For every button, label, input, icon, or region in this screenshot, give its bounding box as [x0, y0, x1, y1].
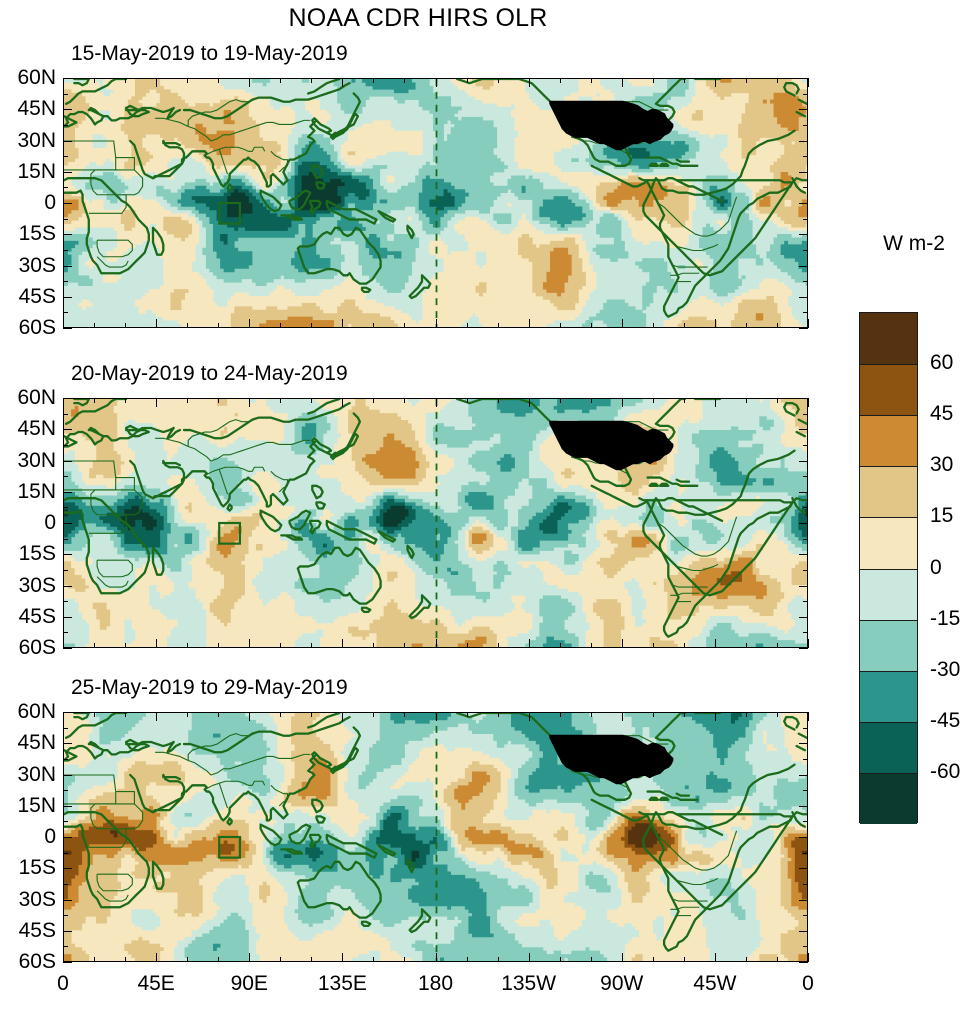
latitude-minor-tick [63, 125, 68, 126]
longitude-tick [156, 78, 157, 87]
longitude-minor-tick [467, 712, 468, 717]
latitude-label: 60S [19, 636, 56, 660]
longitude-minor-tick [746, 323, 747, 328]
latitude-tick [63, 617, 72, 618]
longitude-tick [529, 319, 530, 328]
figure-canvas: NOAA CDR HIRS OLR 15-May-2019 to 19-May-… [0, 0, 964, 1013]
colorbar-tick-label: -15 [930, 607, 960, 631]
latitude-label: 60S [19, 316, 56, 340]
longitude-tick [63, 319, 64, 328]
latitude-minor-tick [63, 507, 68, 508]
colorbar [859, 312, 918, 823]
longitude-tick [156, 953, 157, 962]
latitude-tick [63, 648, 72, 649]
longitude-tick [342, 953, 343, 962]
latitude-tick [63, 931, 72, 932]
latitude-label: 45S [19, 605, 56, 629]
latitude-minor-tick [63, 414, 68, 415]
longitude-minor-tick [560, 643, 561, 648]
latitude-label: 30S [19, 254, 56, 278]
latitude-tick [63, 266, 72, 267]
panel-title-3: 25-May-2019 to 29-May-2019 [71, 676, 348, 700]
longitude-tick [715, 639, 716, 648]
colorbar-divider [860, 773, 917, 774]
longitude-minor-tick [777, 712, 778, 717]
longitude-label: 180 [418, 972, 453, 996]
figure-title: NOAA CDR HIRS OLR [0, 4, 836, 33]
longitude-tick [529, 398, 530, 407]
longitude-tick [63, 712, 64, 721]
longitude-tick [156, 639, 157, 648]
latitude-tick [63, 172, 72, 173]
latitude-minor-tick [63, 570, 68, 571]
latitude-tick-right [799, 712, 808, 713]
latitude-minor-tick [63, 632, 68, 633]
colorbar-band [860, 722, 917, 774]
longitude-minor-tick [591, 323, 592, 328]
longitude-minor-tick [280, 398, 281, 403]
longitude-minor-tick [777, 643, 778, 648]
latitude-tick [63, 429, 72, 430]
longitude-minor-tick [373, 643, 374, 648]
longitude-minor-tick [187, 398, 188, 403]
longitude-minor-tick [373, 323, 374, 328]
latitude-minor-tick-right [803, 312, 808, 313]
longitude-minor-tick [125, 957, 126, 962]
latitude-tick [63, 712, 72, 713]
longitude-minor-tick [94, 78, 95, 83]
longitude-minor-tick [684, 323, 685, 328]
latitude-tick [63, 461, 72, 462]
latitude-label: 0 [44, 191, 56, 215]
latitude-tick [63, 297, 72, 298]
longitude-minor-tick [467, 398, 468, 403]
longitude-minor-tick [653, 78, 654, 83]
latitude-tick [63, 141, 72, 142]
longitude-minor-tick [498, 78, 499, 83]
latitude-tick [63, 203, 72, 204]
longitude-minor-tick [94, 712, 95, 717]
longitude-minor-tick [560, 712, 561, 717]
longitude-tick [249, 78, 250, 87]
longitude-tick [156, 319, 157, 328]
longitude-tick [622, 953, 623, 962]
latitude-label: 60N [17, 66, 56, 90]
latitude-label: 30N [17, 449, 56, 473]
latitude-tick [63, 962, 72, 963]
latitude-tick-right [799, 554, 808, 555]
colorbar-tick-label: 30 [930, 453, 953, 477]
longitude-tick [622, 639, 623, 648]
latitude-tick [63, 78, 72, 79]
longitude-tick [342, 712, 343, 721]
latitude-minor-tick [63, 187, 68, 188]
latitude-minor-tick-right [803, 125, 808, 126]
longitude-tick [63, 953, 64, 962]
longitude-label: 0 [802, 972, 814, 996]
colorbar-band [860, 773, 917, 825]
longitude-tick [249, 639, 250, 648]
latitude-minor-tick [63, 539, 68, 540]
longitude-minor-tick [94, 323, 95, 328]
longitude-minor-tick [125, 78, 126, 83]
latitude-minor-tick [63, 946, 68, 947]
longitude-tick [249, 319, 250, 328]
longitude-minor-tick [218, 78, 219, 83]
longitude-tick [808, 398, 809, 407]
longitude-minor-tick [746, 957, 747, 962]
latitude-tick-right [799, 837, 808, 838]
colorbar-tick-label: -30 [930, 658, 960, 682]
longitude-minor-tick [125, 323, 126, 328]
latitude-minor-tick [63, 884, 68, 885]
latitude-minor-tick-right [803, 414, 808, 415]
longitude-tick [622, 78, 623, 87]
latitude-minor-tick [63, 476, 68, 477]
latitude-tick-right [799, 586, 808, 587]
latitude-minor-tick-right [803, 445, 808, 446]
longitude-minor-tick [498, 643, 499, 648]
latitude-label: 60N [17, 386, 56, 410]
longitude-minor-tick [280, 323, 281, 328]
longitude-minor-tick [187, 323, 188, 328]
map-panel-1 [63, 78, 808, 328]
colorbar-band [860, 466, 917, 518]
longitude-tick [529, 639, 530, 648]
longitude-minor-tick [311, 643, 312, 648]
longitude-minor-tick [311, 398, 312, 403]
longitude-tick [63, 639, 64, 648]
longitude-minor-tick [373, 398, 374, 403]
longitude-tick [342, 319, 343, 328]
latitude-minor-tick-right [803, 884, 808, 885]
longitude-tick [342, 78, 343, 87]
longitude-minor-tick [498, 323, 499, 328]
longitude-minor-tick [94, 643, 95, 648]
latitude-minor-tick-right [803, 728, 808, 729]
longitude-minor-tick [187, 957, 188, 962]
longitude-tick [529, 712, 530, 721]
latitude-tick-right [799, 743, 808, 744]
longitude-tick [808, 712, 809, 721]
longitude-tick [622, 712, 623, 721]
longitude-minor-tick [746, 78, 747, 83]
longitude-minor-tick [311, 957, 312, 962]
longitude-tick [342, 398, 343, 407]
longitude-minor-tick [746, 643, 747, 648]
longitude-minor-tick [746, 398, 747, 403]
latitude-minor-tick-right [803, 790, 808, 791]
longitude-minor-tick [467, 78, 468, 83]
longitude-minor-tick [404, 643, 405, 648]
colorbar-divider [860, 364, 917, 365]
latitude-tick-right [799, 297, 808, 298]
latitude-label: 30S [19, 574, 56, 598]
longitude-minor-tick [125, 643, 126, 648]
colorbar-divider [860, 620, 917, 621]
latitude-tick [63, 837, 72, 838]
latitude-tick-right [799, 266, 808, 267]
longitude-minor-tick [280, 712, 281, 717]
longitude-tick [156, 712, 157, 721]
colorbar-units-label: W m-2 [883, 232, 945, 256]
latitude-tick [63, 775, 72, 776]
longitude-minor-tick [684, 398, 685, 403]
longitude-minor-tick [653, 712, 654, 717]
longitude-minor-tick [94, 398, 95, 403]
longitude-minor-tick [218, 323, 219, 328]
colorbar-tick-label: 45 [930, 402, 953, 426]
map-panel-2 [63, 398, 808, 648]
latitude-label: 15S [19, 856, 56, 880]
longitude-minor-tick [653, 398, 654, 403]
latitude-tick-right [799, 617, 808, 618]
colorbar-band [860, 620, 917, 672]
latitude-tick [63, 398, 72, 399]
latitude-tick [63, 234, 72, 235]
latitude-label: 45S [19, 285, 56, 309]
latitude-label: 60N [17, 700, 56, 724]
latitude-minor-tick-right [803, 821, 808, 822]
colorbar-tick-label: 0 [930, 556, 942, 580]
longitude-minor-tick [684, 712, 685, 717]
latitude-minor-tick-right [803, 539, 808, 540]
latitude-tick-right [799, 429, 808, 430]
colorbar-divider [860, 722, 917, 723]
longitude-minor-tick [591, 643, 592, 648]
longitude-minor-tick [653, 323, 654, 328]
panel-title-2: 20-May-2019 to 24-May-2019 [71, 362, 348, 386]
latitude-tick-right [799, 78, 808, 79]
latitude-label: 45N [17, 417, 56, 441]
latitude-tick-right [799, 962, 808, 963]
panel-title-1: 15-May-2019 to 19-May-2019 [71, 42, 348, 66]
latitude-tick-right [799, 931, 808, 932]
longitude-minor-tick [187, 712, 188, 717]
latitude-tick-right [799, 648, 808, 649]
longitude-tick [436, 319, 437, 328]
longitude-minor-tick [684, 78, 685, 83]
latitude-minor-tick [63, 219, 68, 220]
longitude-tick [249, 953, 250, 962]
longitude-minor-tick [684, 957, 685, 962]
longitude-tick [436, 639, 437, 648]
longitude-minor-tick [498, 712, 499, 717]
longitude-tick [436, 712, 437, 721]
latitude-label: 45S [19, 919, 56, 943]
latitude-tick [63, 743, 72, 744]
latitude-minor-tick-right [803, 915, 808, 916]
longitude-minor-tick [280, 78, 281, 83]
longitude-minor-tick [777, 398, 778, 403]
latitude-label: 15S [19, 222, 56, 246]
longitude-tick [529, 78, 530, 87]
latitude-tick-right [799, 172, 808, 173]
latitude-label: 15N [17, 794, 56, 818]
longitude-minor-tick [560, 323, 561, 328]
longitude-tick [436, 78, 437, 87]
latitude-minor-tick [63, 759, 68, 760]
longitude-minor-tick [467, 957, 468, 962]
longitude-minor-tick [218, 398, 219, 403]
colorbar-tick-label: 15 [930, 504, 953, 528]
longitude-tick [715, 398, 716, 407]
latitude-minor-tick [63, 312, 68, 313]
longitude-tick [715, 712, 716, 721]
latitude-label: 15S [19, 542, 56, 566]
longitude-tick [715, 78, 716, 87]
latitude-label: 30N [17, 129, 56, 153]
colorbar-tick-label: -60 [930, 760, 960, 784]
latitude-minor-tick-right [803, 853, 808, 854]
latitude-minor-tick [63, 156, 68, 157]
latitude-minor-tick-right [803, 946, 808, 947]
longitude-minor-tick [94, 957, 95, 962]
longitude-minor-tick [777, 323, 778, 328]
longitude-tick [808, 319, 809, 328]
longitude-tick [63, 398, 64, 407]
longitude-minor-tick [653, 957, 654, 962]
latitude-tick [63, 554, 72, 555]
longitude-minor-tick [777, 957, 778, 962]
latitude-tick [63, 109, 72, 110]
longitude-label: 135E [318, 972, 367, 996]
latitude-label: 15N [17, 480, 56, 504]
longitude-tick [715, 319, 716, 328]
map-panel-3 [63, 712, 808, 962]
longitude-tick [808, 78, 809, 87]
longitude-minor-tick [187, 78, 188, 83]
latitude-minor-tick-right [803, 250, 808, 251]
latitude-minor-tick-right [803, 601, 808, 602]
colorbar-band [860, 364, 917, 416]
latitude-minor-tick-right [803, 759, 808, 760]
longitude-minor-tick [311, 323, 312, 328]
longitude-tick [249, 712, 250, 721]
colorbar-band [860, 313, 917, 365]
longitude-tick [622, 398, 623, 407]
latitude-label: 15N [17, 160, 56, 184]
latitude-label: 0 [44, 511, 56, 535]
colorbar-divider [860, 671, 917, 672]
latitude-tick [63, 868, 72, 869]
latitude-minor-tick-right [803, 94, 808, 95]
latitude-minor-tick [63, 601, 68, 602]
latitude-minor-tick-right [803, 476, 808, 477]
longitude-tick [342, 639, 343, 648]
longitude-minor-tick [404, 398, 405, 403]
latitude-tick-right [799, 234, 808, 235]
longitude-tick [249, 398, 250, 407]
longitude-minor-tick [125, 712, 126, 717]
longitude-minor-tick [560, 398, 561, 403]
longitude-tick [808, 639, 809, 648]
longitude-tick [529, 953, 530, 962]
colorbar-divider [860, 569, 917, 570]
latitude-minor-tick-right [803, 156, 808, 157]
longitude-tick [808, 953, 809, 962]
latitude-label: 45N [17, 97, 56, 121]
colorbar-divider [860, 415, 917, 416]
latitude-minor-tick [63, 445, 68, 446]
latitude-label: 60S [19, 950, 56, 974]
latitude-label: 0 [44, 825, 56, 849]
longitude-minor-tick [498, 398, 499, 403]
latitude-label: 30S [19, 888, 56, 912]
latitude-minor-tick [63, 821, 68, 822]
colorbar-divider [860, 517, 917, 518]
latitude-tick [63, 900, 72, 901]
longitude-tick [436, 953, 437, 962]
colorbar-band [860, 569, 917, 621]
colorbar-band [860, 671, 917, 723]
latitude-minor-tick-right [803, 219, 808, 220]
longitude-label: 45W [693, 972, 736, 996]
longitude-minor-tick [404, 323, 405, 328]
longitude-minor-tick [591, 957, 592, 962]
latitude-tick-right [799, 775, 808, 776]
longitude-label: 90E [231, 972, 268, 996]
colorbar-tick-label: 60 [930, 351, 953, 375]
longitude-label: 45E [137, 972, 174, 996]
latitude-tick [63, 328, 72, 329]
longitude-minor-tick [218, 643, 219, 648]
longitude-tick [63, 78, 64, 87]
latitude-tick-right [799, 461, 808, 462]
latitude-minor-tick-right [803, 507, 808, 508]
latitude-minor-tick [63, 728, 68, 729]
colorbar-band [860, 415, 917, 467]
latitude-tick-right [799, 492, 808, 493]
longitude-tick [622, 319, 623, 328]
latitude-tick-right [799, 328, 808, 329]
longitude-minor-tick [373, 957, 374, 962]
longitude-label: 90W [600, 972, 643, 996]
latitude-tick-right [799, 398, 808, 399]
latitude-tick-right [799, 203, 808, 204]
longitude-minor-tick [311, 712, 312, 717]
longitude-label: 135W [501, 972, 556, 996]
latitude-tick [63, 523, 72, 524]
longitude-tick [156, 398, 157, 407]
longitude-minor-tick [280, 643, 281, 648]
latitude-tick-right [799, 868, 808, 869]
latitude-label: 45N [17, 731, 56, 755]
longitude-minor-tick [591, 712, 592, 717]
latitude-tick-right [799, 900, 808, 901]
longitude-minor-tick [218, 957, 219, 962]
latitude-tick-right [799, 523, 808, 524]
latitude-minor-tick [63, 915, 68, 916]
latitude-tick [63, 492, 72, 493]
longitude-tick [436, 398, 437, 407]
latitude-tick-right [799, 141, 808, 142]
latitude-tick-right [799, 806, 808, 807]
longitude-tick [715, 953, 716, 962]
latitude-tick [63, 586, 72, 587]
longitude-minor-tick [373, 712, 374, 717]
longitude-minor-tick [373, 78, 374, 83]
longitude-minor-tick [280, 957, 281, 962]
longitude-minor-tick [125, 398, 126, 403]
latitude-minor-tick-right [803, 570, 808, 571]
longitude-minor-tick [404, 957, 405, 962]
colorbar-tick-label: -45 [930, 709, 960, 733]
longitude-minor-tick [187, 643, 188, 648]
longitude-minor-tick [404, 712, 405, 717]
longitude-minor-tick [684, 643, 685, 648]
longitude-minor-tick [653, 643, 654, 648]
